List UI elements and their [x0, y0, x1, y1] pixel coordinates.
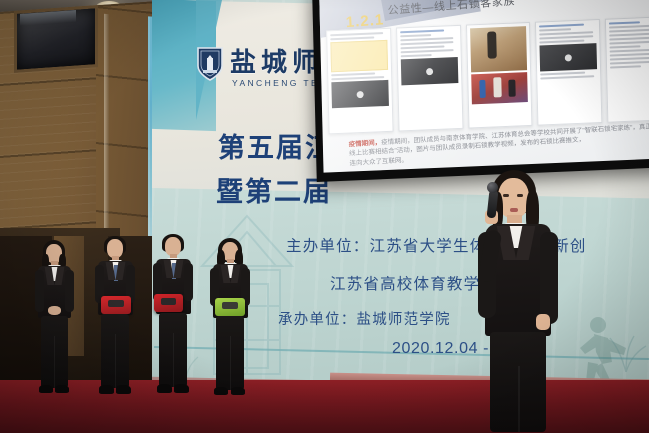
student-3 — [146, 234, 200, 400]
photo-person-hanging — [470, 26, 528, 72]
stone-lock-prop-red-2 — [154, 294, 183, 312]
student-4 — [202, 238, 258, 402]
grass-watermark-icon — [604, 332, 648, 372]
video-thumbnail — [331, 80, 388, 108]
article-card-yellow — [326, 28, 393, 135]
photo-scene: 盐城师 YANCHENG TEACH 第五届江 暨第二届 主办单位：江苏省大学生… — [0, 0, 649, 433]
slide-card-row — [326, 16, 649, 134]
photo-group — [471, 72, 528, 104]
stone-lock-prop-green — [215, 298, 245, 316]
student-2 — [88, 236, 142, 400]
video-thumbnail-3 — [540, 43, 597, 71]
projection-screen: 1.2.1 公益性—线上石锁客家族 — [312, 0, 649, 182]
microphone-head-icon — [487, 182, 498, 193]
slide-footer-highlight: 疫情期间， — [349, 139, 382, 148]
video-thumbnail-2 — [401, 57, 458, 85]
document-card — [605, 16, 649, 123]
banner-heading-line2: 暨第二届 — [216, 170, 332, 209]
wall-seam — [104, 14, 109, 244]
student-1 — [28, 240, 80, 400]
article-card-text — [396, 25, 463, 132]
school-name-cn: 盐城师 — [230, 42, 323, 79]
speaker-presenter — [468, 170, 586, 433]
yellow-highlight-block — [330, 40, 387, 72]
photo-card-indoor — [466, 22, 533, 129]
slide-surface: 1.2.1 公益性—线上石锁客家族 — [319, 0, 649, 173]
stone-lock-prop-red — [101, 296, 131, 314]
hand-right — [536, 314, 550, 330]
video-card — [535, 19, 602, 126]
shield-emblem-icon — [196, 46, 224, 82]
banner-host-line: 承办单位：盐城师范学院 — [278, 308, 451, 329]
